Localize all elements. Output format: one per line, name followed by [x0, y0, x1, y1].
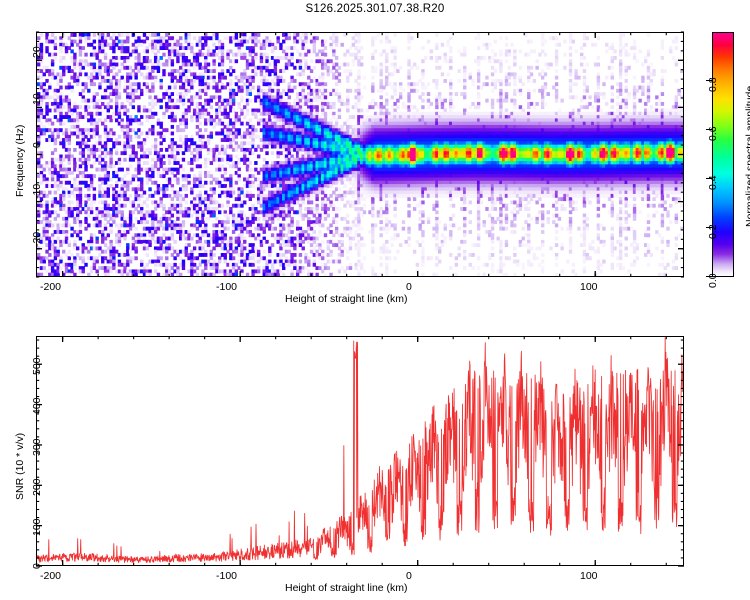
snr-ytick-label-500: 500: [31, 357, 43, 375]
colorbar-tick-label-0: 0.0: [707, 273, 719, 288]
spec-xtick-label-1: -100: [216, 281, 237, 293]
snr-xaxis-label: Height of straight line (km): [285, 582, 408, 594]
spec-xaxis-label: Height of straight line (km): [285, 293, 408, 305]
snr-panel: [36, 336, 684, 566]
spec-ytick-label-10: 10: [31, 93, 43, 105]
spec-xtick-label-3: 100: [580, 281, 598, 293]
spectrogram-canvas: [37, 33, 683, 276]
spec-ytick-label-0: 0: [31, 142, 43, 148]
spec-ytick-label-m20: -20: [31, 232, 43, 247]
snr-ytick-label-400: 400: [31, 397, 43, 415]
snr-yaxis-label: SNR (10 * v/v): [14, 433, 26, 500]
spectrogram-panel: [36, 32, 684, 277]
snr-xtick-label-0: -200: [40, 570, 61, 582]
snr-xtick-label-2: 0: [406, 570, 412, 582]
spec-ytick-label-m10: -10: [31, 184, 43, 199]
snr-ytick-label-300: 300: [31, 438, 43, 456]
snr-ytick-label-200: 200: [31, 478, 43, 496]
colorbar-label: Normalized spectral amplitude: [744, 86, 750, 227]
snr-xtick-label-3: 100: [580, 570, 598, 582]
snr-xtick-label-1: -100: [216, 570, 237, 582]
colorbar-tick-label-1: 0.2: [707, 224, 719, 239]
spec-ytick-label-20: 20: [31, 46, 43, 58]
colorbar-tick-label-4: 0.8: [707, 77, 719, 92]
snr-ytick-label-0: 0: [31, 563, 43, 569]
spec-yaxis-label: Frequency (Hz): [14, 125, 26, 197]
colorbar-tick-label-2: 0.4: [707, 175, 719, 190]
snr-canvas: [37, 337, 683, 565]
snr-ytick-label-100: 100: [31, 518, 43, 536]
colorbar-tick-label-3: 0.6: [707, 126, 719, 141]
spec-xtick-label-0: -200: [40, 281, 61, 293]
figure-title: S126.2025.301.07.38.R20: [0, 3, 750, 15]
figure-root: S126.2025.301.07.38.R20 -200 -100 0 100 …: [0, 0, 750, 600]
spec-xtick-label-2: 0: [406, 281, 412, 293]
colorbar: [712, 32, 734, 277]
